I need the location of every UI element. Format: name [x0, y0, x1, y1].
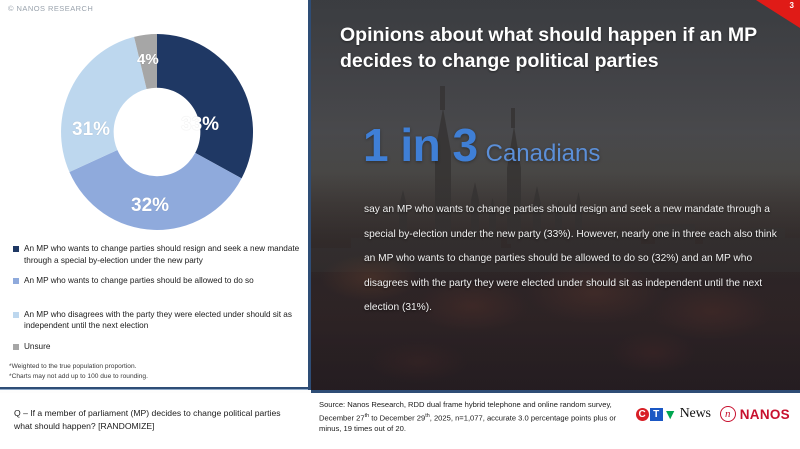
footnote-weighting: *Weighted to the true population proport… — [9, 362, 148, 372]
legend-swatch-icon — [13, 278, 19, 284]
survey-question-block: Q – If a member of parliament (MP) decid… — [0, 393, 311, 449]
legend-item-allowed[interactable]: An MP who wants to change parties should… — [13, 275, 301, 287]
source-note: Source: Nanos Research, RDD dual frame h… — [319, 400, 639, 434]
copyright-notice: © NANOS RESEARCH — [8, 4, 93, 13]
headline-stat-value: 1 in 3 — [363, 119, 478, 171]
donut-label-31: 31% — [72, 119, 110, 141]
page-number: 3 — [790, 1, 794, 10]
headline-stat: 1 in 3Canadians — [363, 118, 600, 172]
legend-swatch-icon — [13, 344, 19, 350]
feature-panel: Opinions about what should happen if an … — [311, 0, 800, 390]
ctv-t-icon: T — [650, 408, 663, 421]
ctv-c-icon: C — [636, 408, 649, 421]
ctv-v-icon: ▼ — [664, 408, 677, 421]
body-paragraph: say an MP who wants to change parties sh… — [364, 198, 780, 321]
legend-swatch-icon — [13, 312, 19, 318]
logo-group: C T ▼ News n NANOS — [636, 406, 790, 422]
chart-legend: An MP who wants to change parties should… — [13, 243, 301, 361]
page-number-flag: 3 — [756, 0, 800, 28]
ctv-news-logo[interactable]: C T ▼ News — [636, 406, 711, 422]
nanos-n-icon: n — [720, 406, 736, 422]
donut-label-32: 32% — [131, 195, 169, 217]
legend-item-label: Unsure — [24, 341, 50, 353]
nanos-wordmark: NANOS — [740, 407, 790, 422]
ctv-news-wordmark: News — [680, 406, 711, 422]
donut-chart: 33% 32% 31% 4% — [53, 34, 261, 230]
donut-slice-resign[interactable] — [157, 34, 253, 178]
legend-item-resign[interactable]: An MP who wants to change parties should… — [13, 243, 301, 266]
nanos-logo[interactable]: n NANOS — [720, 406, 790, 422]
legend-item-unsure[interactable]: Unsure — [13, 341, 301, 353]
slide-footer: Source: Nanos Research, RDD dual frame h… — [311, 393, 800, 449]
headline-stat-subject: Canadians — [486, 140, 601, 167]
legend-swatch-icon — [13, 246, 19, 252]
slide-canvas: © NANOS RESEARCH 33% 32% 31% 4% — [0, 0, 800, 449]
donut-label-33: 33% — [181, 114, 219, 136]
source-mid: to December 29 — [369, 413, 425, 422]
donut-slice-independent[interactable] — [61, 37, 147, 172]
chart-panel: © NANOS RESEARCH 33% 32% 31% 4% — [0, 0, 311, 390]
legend-item-label: An MP who wants to change parties should… — [24, 243, 301, 266]
legend-item-label: An MP who wants to change parties should… — [24, 275, 254, 287]
footnote-rounding: *Charts may not add up to 100 due to rou… — [9, 372, 148, 382]
survey-question-text: Q – If a member of parliament (MP) decid… — [14, 407, 289, 432]
legend-item-label: An MP who disagrees with the party they … — [24, 309, 301, 332]
page-title: Opinions about what should happen if an … — [340, 22, 760, 74]
donut-label-4: 4% — [137, 51, 159, 68]
chart-footnotes: *Weighted to the true population proport… — [9, 362, 148, 381]
legend-item-independent[interactable]: An MP who disagrees with the party they … — [13, 309, 301, 332]
